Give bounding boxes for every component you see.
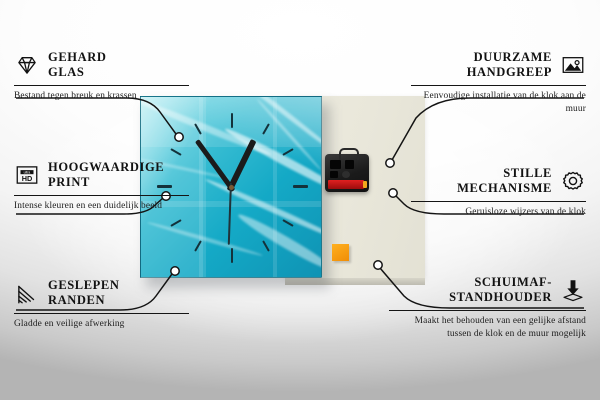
divider-rule	[389, 310, 586, 312]
feature-title-line2: STANDHOUDER	[449, 290, 552, 304]
feature-title-line1: GESLEPEN	[48, 278, 120, 292]
hanger-loop	[339, 148, 359, 160]
diamond-icon	[14, 52, 40, 78]
press-down-icon	[560, 277, 586, 303]
feature-gehard-glas: GEHARD GLAS Bestand tegen breuk en krass…	[14, 50, 189, 103]
feature-title-line1: GEHARD	[48, 50, 106, 64]
feature-title-line2: PRINT	[48, 175, 90, 189]
tick-5	[262, 240, 270, 251]
feature-title-line1: SCHUIMAF-	[474, 275, 552, 289]
feature-title-line1: STILLE	[503, 166, 552, 180]
feature-desc: Geruisloze wijzers van de klok	[411, 206, 586, 218]
divider-rule	[14, 85, 189, 87]
feature-geslepen-randen: GESLEPEN RANDEN Gladde en veilige afwerk…	[14, 278, 189, 331]
svg-text:HD: HD	[22, 174, 33, 183]
feature-desc: Intense kleuren en een duidelijk beeld	[14, 200, 189, 212]
diagonal-lines-icon	[14, 280, 40, 306]
feature-title-line1: DUURZAME	[474, 50, 552, 64]
tick-3	[293, 185, 308, 188]
feature-desc: Bestand tegen breuk en krassen	[14, 90, 189, 102]
gear-icon	[560, 168, 586, 194]
feature-title-line2: HANDGREEP	[467, 65, 552, 79]
feature-title-line2: MECHANISME	[457, 181, 552, 195]
feature-desc: Gladde en veilige afwerking	[14, 318, 189, 330]
divider-rule	[14, 313, 189, 315]
feature-duurzame-handgreep: DUURZAME HANDGREEP Eenvoudige installati…	[411, 50, 586, 115]
divider-rule	[411, 201, 586, 203]
battery	[328, 180, 364, 189]
feature-desc: Eenvoudige installatie van de klok aan d…	[411, 90, 586, 115]
feature-desc: Maakt het behouden van een gelijke afsta…	[389, 315, 586, 340]
quartz-movement	[325, 154, 369, 192]
ultra-hd-icon: ultra HD	[14, 162, 40, 188]
feature-stille-mechanisme: STILLE MECHANISME Geruisloze wijzers van…	[411, 166, 586, 219]
feature-title-line1: HOOGWAARDIGE	[48, 160, 164, 174]
tick-12	[231, 113, 233, 128]
feature-title-line2: RANDEN	[48, 293, 105, 307]
divider-rule	[411, 85, 586, 87]
tick-6	[231, 248, 233, 263]
foam-spacer	[332, 244, 349, 261]
dial-center-cap	[229, 185, 234, 190]
divider-rule	[14, 195, 189, 197]
feature-schuimafstandhouder: SCHUIMAF- STANDHOUDER Maakt het behouden…	[389, 275, 586, 340]
feature-hoogwaardige-print: ultra HD HOOGWAARDIGE PRINT Intense kleu…	[14, 160, 189, 213]
picture-frame-icon	[560, 52, 586, 78]
tick-2	[282, 148, 293, 156]
infographic-canvas: GEHARD GLAS Bestand tegen breuk en krass…	[0, 0, 600, 400]
feature-title-line2: GLAS	[48, 65, 84, 79]
